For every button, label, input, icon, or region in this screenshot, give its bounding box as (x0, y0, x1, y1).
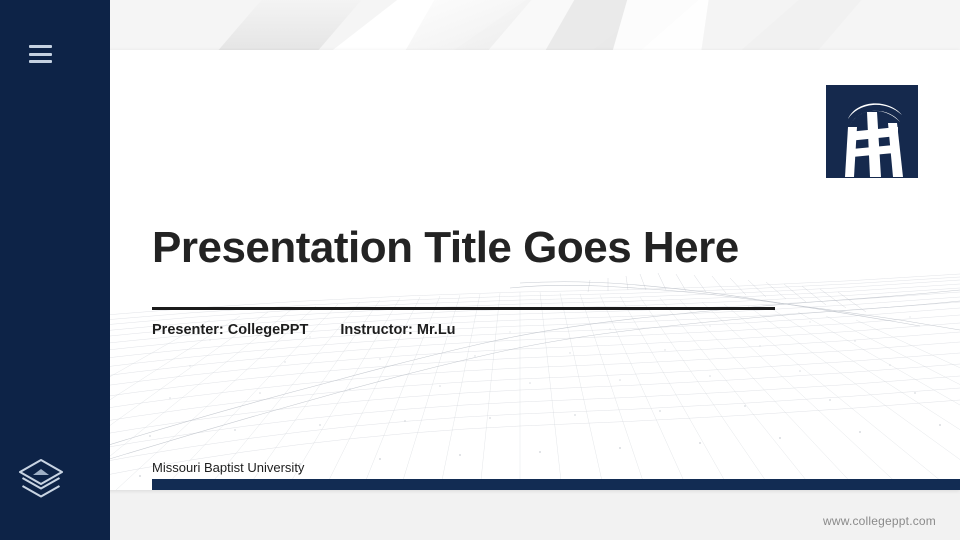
slide-canvas[interactable]: Presentation Title Goes Here Presenter: … (80, 50, 960, 490)
slide-footer-bar (152, 479, 960, 490)
hamburger-line-1 (29, 45, 52, 48)
app-root: Presentation Title Goes Here Presenter: … (0, 0, 960, 540)
left-sidebar (0, 0, 110, 540)
page-title: Presentation Title Goes Here (152, 223, 739, 273)
header-swoosh-band (110, 0, 960, 56)
presenter-label: Presenter: (152, 322, 224, 338)
wireframe-mesh-background (80, 240, 960, 490)
title-divider (152, 307, 775, 310)
layers-stack-glyph (16, 455, 66, 505)
hamburger-line-3 (29, 60, 52, 63)
hamburger-menu-icon[interactable] (29, 45, 52, 63)
credits-line: Presenter: CollegePPT Instructor: Mr.Lu (152, 322, 456, 338)
instructor-name: Mr.Lu (417, 322, 456, 338)
layers-stack-icon[interactable] (16, 455, 66, 505)
watermark-url: www.collegeppt.com (823, 514, 936, 528)
university-logo (826, 85, 918, 178)
instructor-label: Instructor: (340, 322, 413, 338)
university-name: Missouri Baptist University (152, 460, 304, 475)
swoosh-graphic (110, 0, 960, 56)
mbu-arch-icon (826, 85, 918, 178)
presenter-name: CollegePPT (228, 322, 309, 338)
hamburger-line-2 (29, 53, 52, 56)
